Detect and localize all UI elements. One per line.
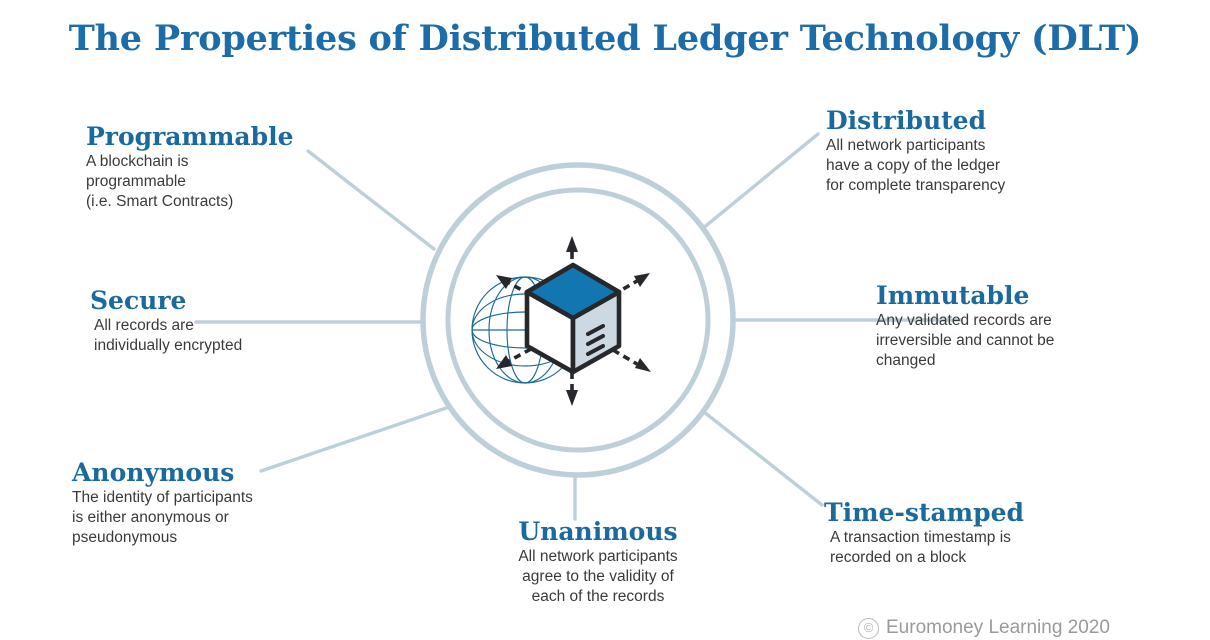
property-title: Secure [90,288,242,314]
property-body: All network participants agree to the va… [455,547,741,606]
property-title: Distributed [826,108,1005,134]
property-title: Time-stamped [824,500,1024,526]
property-immutable: Immutable Any validated records are irre… [876,283,1054,370]
connector-anonymous [261,406,452,471]
copyright-icon: © [858,618,879,639]
property-title: Anonymous [72,460,253,486]
property-body: A transaction timestamp is recorded on a… [824,528,1024,567]
property-body: All network participants have a copy of … [826,136,1005,195]
connector-timestamped [704,412,822,505]
property-body: The identity of participants is either a… [72,488,253,547]
property-anonymous: Anonymous The identity of participants i… [72,460,253,547]
property-body: All records are individually encrypted [90,316,242,355]
property-title: Unanimous [455,519,741,545]
copyright-text: Euromoney Learning 2020 [886,617,1110,639]
property-title: Immutable [876,283,1054,309]
connector-programmable [308,151,434,249]
property-unanimous: Unanimous All network participants agree… [455,519,741,606]
property-secure: Secure All records are individually encr… [90,288,242,356]
property-body: Any validated records are irreversible a… [876,311,1054,370]
property-title: Programmable [86,124,293,150]
connector-distributed [702,134,818,229]
property-distributed: Distributed All network participants hav… [826,108,1005,195]
property-programmable: Programmable A blockchain is programmabl… [86,124,293,211]
property-timestamped: Time-stamped A transaction timestamp is … [824,500,1024,568]
copyright-footer: © Euromoney Learning 2020 [858,617,1110,639]
property-body: A blockchain is programmable (i.e. Smart… [86,152,293,211]
infographic-canvas: The Properties of Distributed Ledger Tec… [0,0,1210,640]
